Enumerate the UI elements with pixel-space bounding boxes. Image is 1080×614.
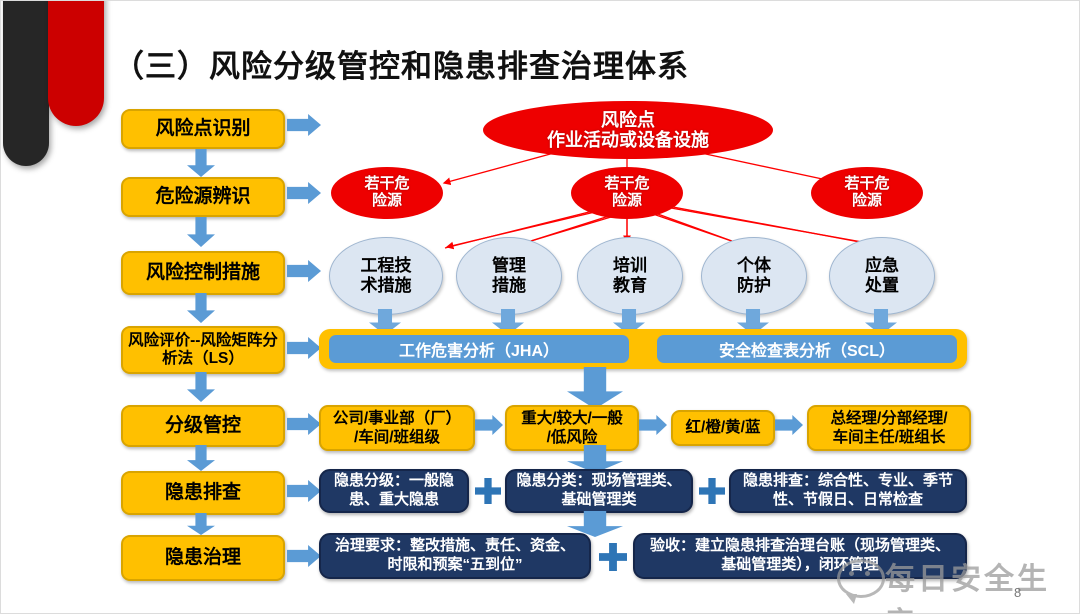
ellipse-line-2: 处置 bbox=[865, 276, 899, 296]
line-1: 重大/较大/一般 bbox=[521, 410, 623, 427]
ellipse-hazard-source-1[interactable]: 若干危 险源 bbox=[331, 167, 443, 219]
step-label: 风险点识别 bbox=[155, 118, 250, 140]
grading-box-responsible[interactable]: 总经理/分部经理/ 车间主任/班组长 bbox=[807, 405, 971, 451]
down-arrow-5 bbox=[187, 445, 215, 471]
down-arrow-6 bbox=[187, 513, 215, 535]
step-box-hazard-inspection[interactable]: 隐患排查 bbox=[121, 471, 285, 515]
ellipse-line-1: 工程技 bbox=[361, 256, 412, 276]
ellipse-line-1: 个体 bbox=[737, 256, 771, 276]
watermark-text: 每日安全生产 bbox=[885, 554, 1079, 614]
line-1: 隐患分级：一般隐 bbox=[334, 472, 454, 489]
navy-text: 治理要求：整改措施、责任、资金、 时限和预案“五到位” bbox=[335, 537, 575, 575]
treatment-box-requirements[interactable]: 治理要求：整改措施、责任、资金、 时限和预案“五到位” bbox=[319, 533, 591, 579]
line-1: 隐患分类：现场管理类、 bbox=[516, 472, 681, 489]
line-2: 患、重大隐患 bbox=[349, 491, 439, 508]
line-2: /车间/班组级 bbox=[354, 429, 440, 446]
navy-text: 隐患分级：一般隐 患、重大隐患 bbox=[334, 472, 454, 510]
right-arrow-step-5 bbox=[287, 413, 321, 435]
ellipse-line-2: 险源 bbox=[612, 193, 642, 210]
plus-icon-2 bbox=[699, 478, 725, 504]
step-label: 隐患排查 bbox=[165, 482, 241, 504]
down-arrow-1 bbox=[187, 149, 215, 177]
grading-text: 总经理/分部经理/ 车间主任/班组长 bbox=[830, 409, 947, 448]
ellipse-line-2: 教育 bbox=[613, 276, 647, 296]
line-1: 隐患排查：综合性、专业、季节 bbox=[743, 472, 953, 489]
ellipse-line-1: 培训 bbox=[613, 256, 647, 276]
inspection-box-types[interactable]: 隐患排查：综合性、专业、季节 性、节假日、日常检查 bbox=[729, 469, 967, 513]
ellipse-line-1: 管理 bbox=[492, 256, 526, 276]
ellipse-line-2: 防护 bbox=[737, 276, 771, 296]
ellipse-measure-ppe[interactable]: 个体 防护 bbox=[701, 237, 807, 315]
ellipse-line-2: 术措施 bbox=[361, 276, 412, 296]
ellipse-hazard-source-2[interactable]: 若干危 险源 bbox=[571, 167, 683, 219]
line-1: 验收：建立隐患排查治理台账（现场管理类、 bbox=[650, 537, 950, 554]
grading-box-level[interactable]: 公司/事业部（厂） /车间/班组级 bbox=[319, 405, 475, 451]
ellipse-line-1: 若干危 bbox=[844, 176, 889, 193]
grading-text: 公司/事业部（厂） /车间/班组级 bbox=[333, 409, 461, 448]
page-title: （三）风险分级管控和隐患排查治理体系 bbox=[113, 41, 689, 86]
inspection-box-classification-level[interactable]: 隐患分级：一般隐 患、重大隐患 bbox=[319, 469, 469, 513]
navy-text: 隐患排查：综合性、专业、季节 性、节假日、日常检查 bbox=[743, 472, 953, 510]
grading-text: 红/橙/黄/蓝 bbox=[686, 419, 761, 437]
ellipse-line-2: 措施 bbox=[492, 276, 526, 296]
step-box-hazard-treatment[interactable]: 隐患治理 bbox=[121, 535, 285, 581]
line-1: 治理要求：整改措施、责任、资金、 bbox=[335, 537, 575, 554]
down-arrow-2 bbox=[187, 217, 215, 247]
right-arrow-step-4 bbox=[287, 337, 321, 359]
ellipse-line-1: 若干危 bbox=[364, 176, 409, 193]
ellipse-measure-engineering[interactable]: 工程技 术措施 bbox=[329, 237, 443, 315]
plus-icon-3 bbox=[599, 543, 627, 571]
grading-arrow-1 bbox=[475, 415, 503, 435]
right-arrow-step-6 bbox=[287, 480, 321, 502]
line-2: 时限和预案“五到位” bbox=[387, 556, 522, 573]
grading-arrow-3 bbox=[775, 415, 803, 435]
step-box-hazard-identification[interactable]: 危险源辨识 bbox=[121, 177, 285, 217]
analysis-box-jha[interactable]: 工作危害分析（JHA） bbox=[329, 335, 629, 363]
ellipse-measure-training[interactable]: 培训 教育 bbox=[577, 237, 683, 315]
navy-text: 隐患分类：现场管理类、 基础管理类 bbox=[516, 472, 681, 510]
connector-lines bbox=[1, 1, 1080, 614]
plus-icon-1 bbox=[475, 478, 501, 504]
decorative-bar-black bbox=[3, 0, 49, 166]
ellipse-line-1: 若干危 bbox=[604, 176, 649, 193]
analysis-box-scl[interactable]: 安全检查表分析（SCL） bbox=[657, 335, 957, 363]
right-arrow-step-7 bbox=[287, 545, 321, 567]
line-2: 车间主任/班组长 bbox=[833, 429, 946, 446]
ellipse-line-2: 险源 bbox=[852, 193, 882, 210]
line-1: 总经理/分部经理/ bbox=[830, 410, 947, 427]
down-arrow-3 bbox=[187, 293, 215, 323]
inspection-box-category[interactable]: 隐患分类：现场管理类、 基础管理类 bbox=[505, 469, 693, 513]
analysis-label: 安全检查表分析（SCL） bbox=[719, 337, 895, 361]
ellipse-hazard-source-3[interactable]: 若干危 险源 bbox=[811, 167, 923, 219]
line-2: 基础管理类 bbox=[561, 491, 636, 508]
right-arrow-step-3 bbox=[287, 260, 321, 282]
decorative-bar-red bbox=[48, 0, 104, 126]
ellipse-line-1: 应急 bbox=[865, 256, 899, 276]
step-box-risk-evaluation[interactable]: 风险评价--风险矩阵分析法（LS） bbox=[121, 326, 285, 374]
step-box-risk-point-identification[interactable]: 风险点识别 bbox=[121, 109, 285, 149]
grading-box-risk-level[interactable]: 重大/较大/一般 /低风险 bbox=[505, 405, 639, 451]
step-box-risk-control-measures[interactable]: 风险控制措施 bbox=[121, 251, 285, 295]
band-down-arrow bbox=[567, 367, 623, 409]
grading-arrow-2 bbox=[639, 415, 667, 435]
ellipse-line-1: 风险点 bbox=[601, 110, 655, 130]
ellipse-line-2: 作业活动或设备设施 bbox=[547, 130, 709, 150]
analysis-label: 工作危害分析（JHA） bbox=[399, 337, 559, 361]
slide-canvas: （三）风险分级管控和隐患排查治理体系 风险点识别 bbox=[0, 0, 1080, 614]
line-1: 公司/事业部（厂） bbox=[333, 410, 461, 427]
ellipse-measure-emergency[interactable]: 应急 处置 bbox=[829, 237, 935, 315]
step-label: 危险源辨识 bbox=[155, 186, 250, 208]
line-2: /低风险 bbox=[547, 429, 598, 446]
grading-text: 重大/较大/一般 /低风险 bbox=[521, 409, 623, 448]
page-number: 8 bbox=[1014, 585, 1021, 600]
line-2: 性、节假日、日常检查 bbox=[773, 491, 923, 508]
right-arrow-step-1 bbox=[287, 114, 321, 136]
down-arrow-4 bbox=[187, 372, 215, 402]
grading-box-colors[interactable]: 红/橙/黄/蓝 bbox=[671, 410, 775, 446]
ellipse-risk-point[interactable]: 风险点 作业活动或设备设施 bbox=[483, 101, 773, 159]
step-label: 风险评价--风险矩阵分析法（LS） bbox=[123, 332, 283, 368]
step-label: 分级管控 bbox=[165, 415, 241, 437]
ellipse-line-2: 险源 bbox=[372, 193, 402, 210]
wechat-logo-icon bbox=[837, 559, 885, 598]
step-label: 隐患治理 bbox=[165, 547, 241, 569]
ellipse-measure-management[interactable]: 管理 措施 bbox=[456, 237, 562, 315]
step-label: 风险控制措施 bbox=[146, 262, 260, 284]
right-arrow-step-2 bbox=[287, 182, 321, 204]
step-box-graded-control[interactable]: 分级管控 bbox=[121, 405, 285, 447]
